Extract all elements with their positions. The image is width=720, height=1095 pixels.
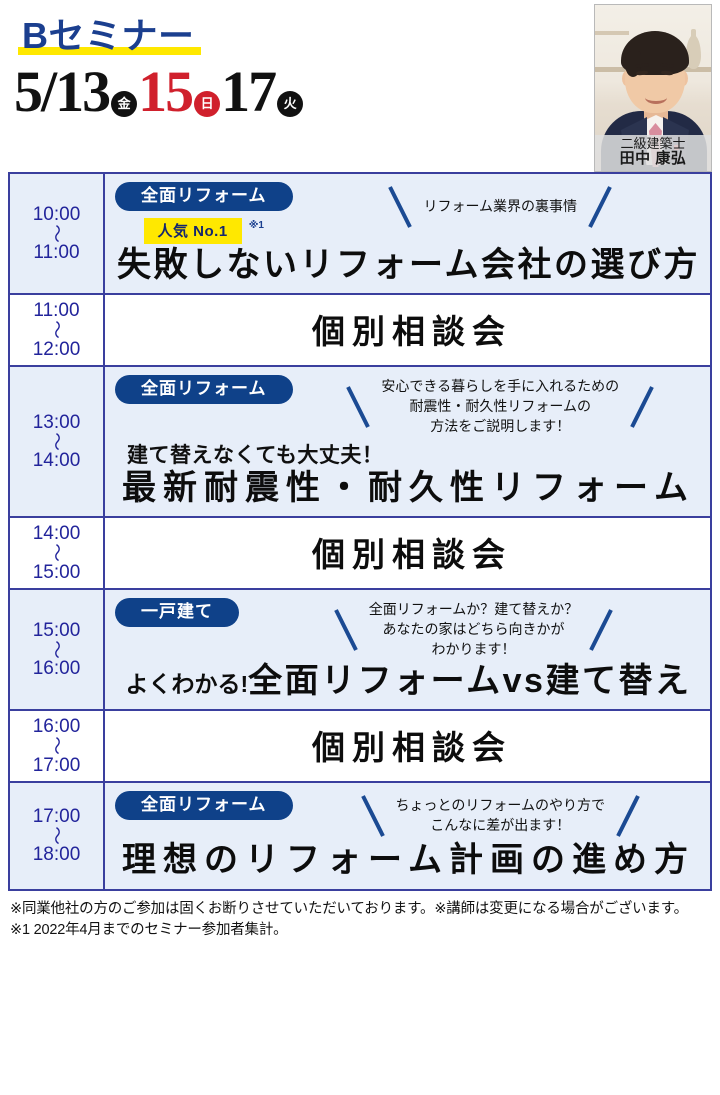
date-day-1: 13 [55, 63, 109, 121]
session-top-area: 全面リフォーム安心できる暮らしを手に入れるための 耐震性・耐久性リフォームの 方… [115, 373, 702, 437]
session-title: 最新耐震性・耐久性リフォーム [122, 469, 695, 507]
schedule-row: 16:00〜17:00個別相談会 [10, 711, 710, 783]
session-body: 全面リフォーム人気 No.1※1リフォーム業界の裏事情失敗しないリフォーム会社の… [105, 174, 710, 293]
dow-badge-1: 金 [111, 91, 137, 117]
time-cell: 14:00〜15:00 [10, 518, 105, 588]
session-title: 個別相談会 [115, 721, 702, 769]
time-end: 16:00 [33, 658, 81, 679]
tag-column: 全面リフォーム [115, 373, 293, 404]
schedule-row: 10:00〜11:00全面リフォーム人気 No.1※1リフォーム業界の裏事情失敗… [10, 174, 710, 295]
footer-notes: ※同業他社の方のご参加は固くお断りさせていただいております。※講師は変更になる場… [10, 899, 710, 943]
time-end: 15:00 [33, 562, 81, 583]
badge-footnote-marker: ※1 [249, 218, 264, 234]
category-pill: 一戸建て [115, 598, 239, 627]
time-start: 11:00 [33, 300, 79, 321]
date-day-2: 15 [138, 63, 192, 121]
session-body: 個別相談会 [105, 295, 710, 365]
session-body: 個別相談会 [105, 518, 710, 588]
session-note: ちょっとのリフォームのやり方で こんなに差が出ます！ [396, 796, 605, 836]
session-body: 全面リフォームちょっとのリフォームのやり方で こんなに差が出ます！理想のリフォー… [105, 783, 710, 888]
time-cell: 17:00〜18:00 [10, 783, 105, 888]
schedule-row: 14:00〜15:00個別相談会 [10, 518, 710, 590]
slash-left-icon [333, 607, 359, 653]
session-top-area: 一戸建て全面リフォームか？建て替えか？ あなたの家はどちら向きかが わかります！ [115, 596, 702, 660]
tag-column: 全面リフォーム [115, 789, 293, 820]
time-separator: 〜 [49, 737, 64, 756]
schedule-row: 13:00〜14:00全面リフォーム安心できる暮らしを手に入れるための 耐震性・… [10, 367, 710, 518]
time-end: 11:00 [33, 242, 79, 263]
time-separator: 〜 [49, 826, 64, 845]
poster-header: Bセミナー 5/ 13 金 15 日 17 火 [0, 0, 720, 172]
session-top-area: 全面リフォームちょっとのリフォームのやり方で こんなに差が出ます！ [115, 789, 702, 839]
time-cell: 16:00〜17:00 [10, 711, 105, 781]
instructor-name: 田中 康弘 [595, 151, 711, 168]
smile-shape [645, 91, 667, 104]
slash-left-icon [360, 793, 386, 839]
time-separator: 〜 [49, 224, 64, 243]
session-title-line: 理想のリフォーム計画の進め方 [115, 841, 702, 880]
hair-shape [621, 31, 689, 75]
time-start: 13:00 [33, 412, 81, 433]
category-pill: 全面リフォーム [115, 375, 293, 404]
page-title: Bセミナー [18, 16, 201, 55]
time-separator: 〜 [49, 640, 64, 659]
session-body: 一戸建て全面リフォームか？建て替えか？ あなたの家はどちら向きかが わかります！… [105, 590, 710, 709]
note-column: 全面リフォームか？建て替えか？ あなたの家はどちら向きかが わかります！ [245, 596, 702, 660]
session-title: 個別相談会 [115, 528, 702, 576]
note-column: 安心できる暮らしを手に入れるための 耐震性・耐久性リフォームの 方法をご説明しま… [299, 373, 703, 437]
session-note: 全面リフォームか？建て替えか？ あなたの家はどちら向きかが わかります！ [369, 600, 579, 660]
time-end: 12:00 [33, 339, 81, 360]
time-separator: 〜 [49, 321, 64, 340]
time-cell: 10:00〜11:00 [10, 174, 105, 293]
note-column: ちょっとのリフォームのやり方で こんなに差が出ます！ [299, 789, 703, 839]
time-end: 14:00 [33, 450, 81, 471]
session-note: 安心できる暮らしを手に入れるための 耐震性・耐久性リフォームの 方法をご説明しま… [381, 377, 619, 437]
shelf-decor-upper [595, 31, 629, 35]
time-start: 17:00 [33, 806, 81, 827]
dow-badge-2: 日 [194, 91, 220, 117]
note-column: リフォーム業界の裏事情 [299, 180, 703, 230]
slash-right-icon [588, 607, 614, 653]
session-body: 全面リフォーム安心できる暮らしを手に入れるための 耐震性・耐久性リフォームの 方… [105, 367, 710, 516]
time-end: 17:00 [33, 755, 81, 776]
schedule-table: 10:00〜11:00全面リフォーム人気 No.1※1リフォーム業界の裏事情失敗… [8, 172, 712, 891]
category-pill: 全面リフォーム [115, 182, 293, 211]
session-title-lead: よくわかる! [126, 671, 249, 697]
slash-right-icon [615, 793, 641, 839]
session-pre-title: 建て替えなくても大丈夫！ [127, 439, 702, 469]
time-separator: 〜 [49, 432, 64, 451]
schedule-row: 17:00〜18:00全面リフォームちょっとのリフォームのやり方で こんなに差が… [10, 783, 710, 888]
session-top-area: 全面リフォーム人気 No.1※1リフォーム業界の裏事情 [115, 180, 702, 244]
session-note: リフォーム業界の裏事情 [423, 197, 577, 217]
instructor-caption: 二級建築士 田中 康弘 [595, 135, 711, 171]
time-start: 16:00 [33, 716, 81, 737]
session-body: 個別相談会 [105, 711, 710, 781]
date-day-3: 17 [221, 63, 275, 121]
session-title-line: 最新耐震性・耐久性リフォーム [115, 469, 702, 508]
session-title: 個別相談会 [115, 305, 702, 353]
slash-right-icon [587, 184, 613, 230]
time-start: 10:00 [33, 204, 81, 225]
schedule-row: 11:00〜12:00個別相談会 [10, 295, 710, 367]
instructor-photo: 二級建築士 田中 康弘 [594, 4, 712, 172]
session-title-line: 失敗しないリフォーム会社の選び方 [115, 246, 702, 285]
session-title: 全面リフォームvs建て替え [248, 662, 691, 700]
footer-note-1: ※同業他社の方のご参加は固くお断りさせていただいております。※講師は変更になる場… [10, 899, 710, 921]
time-cell: 13:00〜14:00 [10, 367, 105, 516]
dow-badge-3: 火 [277, 91, 303, 117]
tag-column: 一戸建て [115, 596, 239, 627]
category-pill: 全面リフォーム [115, 791, 293, 820]
time-cell: 15:00〜16:00 [10, 590, 105, 709]
session-title: 理想のリフォーム計画の進め方 [122, 841, 695, 879]
footer-note-2: ※1 2022年4月までのセミナー参加者集計。 [10, 920, 710, 942]
popularity-badge: 人気 No.1 [144, 218, 242, 244]
badge-line: 人気 No.1※1 [144, 218, 264, 244]
schedule-row: 15:00〜16:00一戸建て全面リフォームか？建て替えか？ あなたの家はどちら… [10, 590, 710, 711]
time-start: 14:00 [33, 523, 81, 544]
session-title-line: よくわかる!全面リフォームvs建て替え [115, 662, 702, 701]
time-separator: 〜 [49, 544, 64, 563]
month-label: 5/ [14, 63, 55, 121]
time-end: 18:00 [33, 844, 81, 865]
time-cell: 11:00〜12:00 [10, 295, 105, 365]
session-title: 失敗しないリフォーム会社の選び方 [117, 246, 700, 284]
slash-left-icon [387, 184, 413, 230]
time-start: 15:00 [33, 620, 81, 641]
tag-column: 全面リフォーム人気 No.1※1 [115, 180, 293, 244]
slash-left-icon [345, 384, 371, 430]
slash-right-icon [629, 384, 655, 430]
